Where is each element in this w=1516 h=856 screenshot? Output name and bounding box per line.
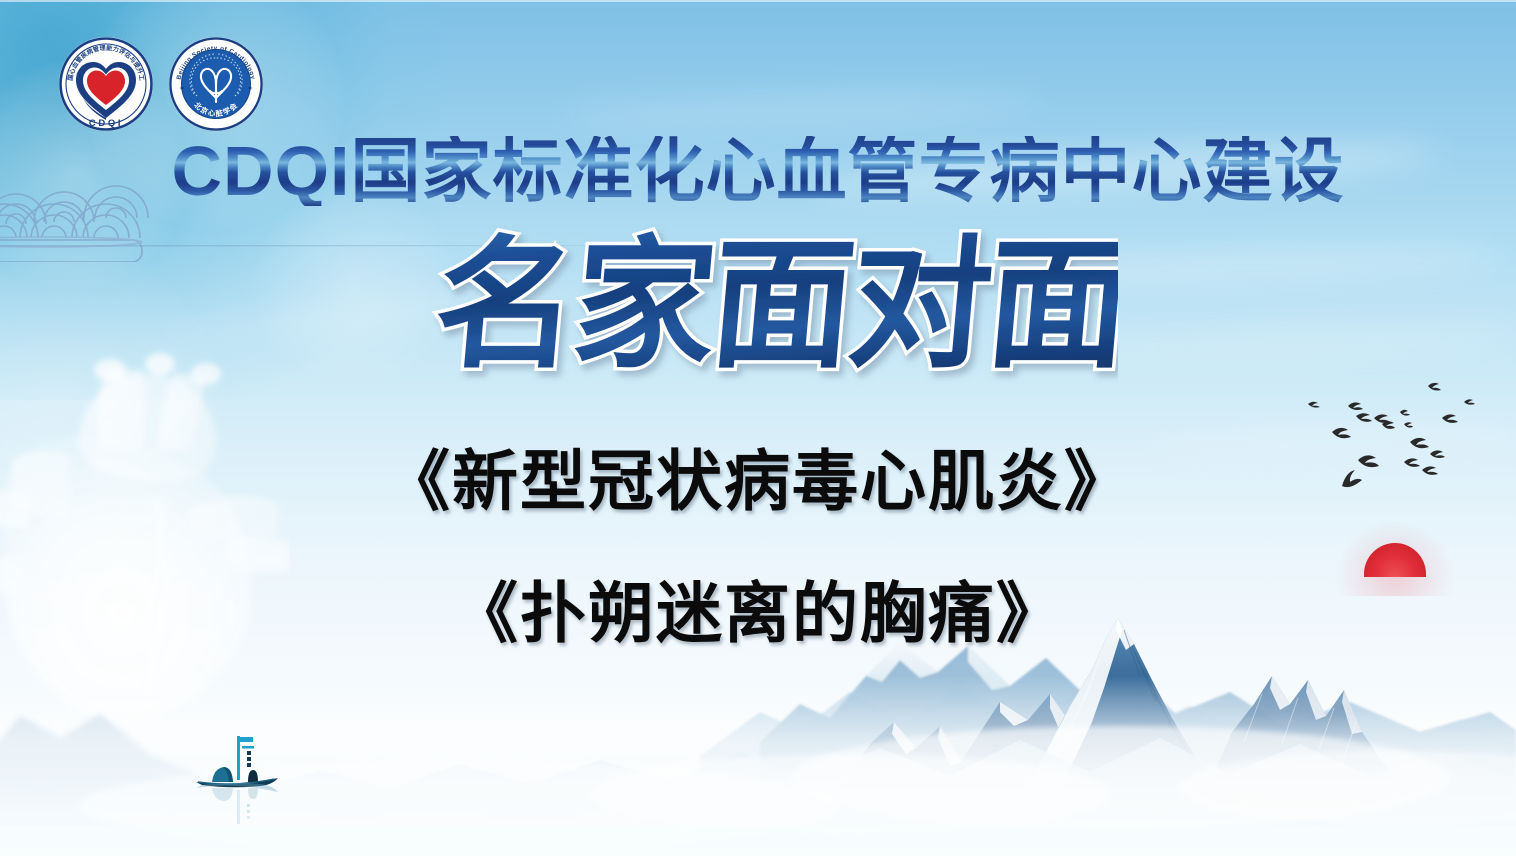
calligraphy-title-text: 名家面对面	[429, 224, 1118, 388]
calligraphy-title: 名家面对面	[0, 224, 1516, 394]
logo-group: 全国心血管疾病管理能力评估与提升工程 CDQI	[58, 36, 264, 132]
cdqi-logo: 全国心血管疾病管理能力评估与提升工程 CDQI	[58, 36, 154, 132]
main-title-text: CDQI国家标准化心血管专病中心建设	[172, 136, 1345, 206]
cdqi-acronym: CDQI	[89, 118, 123, 129]
main-title: CDQI国家标准化心血管专病中心建设 CDQI国家标准化心血管专病中心建设	[0, 136, 1516, 206]
subtitle-line-2: 《扑朔迷离的胸痛》	[0, 560, 1516, 656]
poster-canvas: 全国心血管疾病管理能力评估与提升工程 CDQI	[0, 0, 1516, 856]
top-edge-line	[0, 0, 1516, 2]
subtitle-line-1: 《新型冠状病毒心肌炎》	[0, 428, 1516, 524]
beijing-society-of-cardiology-logo: Beijing Society of Cardiology	[168, 36, 264, 132]
fishing-boat-icon	[186, 732, 296, 842]
